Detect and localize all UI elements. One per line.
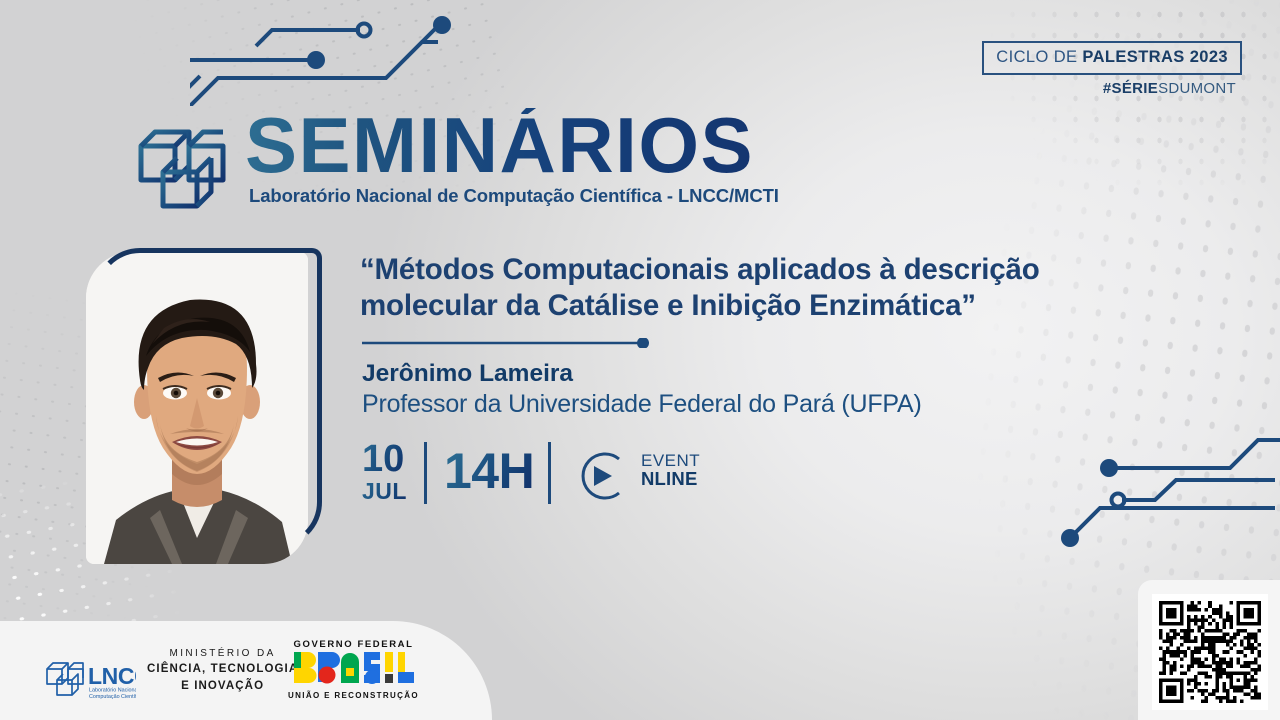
brasil-wordmark-icon	[294, 650, 414, 684]
online-label: NLINE	[641, 468, 698, 490]
brand-subtitle: Laboratório Nacional de Computação Cient…	[249, 185, 779, 207]
circuit-trace-top-left	[190, 0, 510, 106]
ciclo-palestras-badge: CICLO DE PALESTRAS 2023	[982, 41, 1242, 75]
gov-bottom-label: UNIÃO E RECONSTRUÇÃO	[288, 691, 419, 700]
lncc-cube-logo-icon	[133, 116, 237, 220]
circuit-trace-bottom-right	[1060, 410, 1280, 560]
governo-federal-logo: GOVERNO FEDERAL	[288, 639, 419, 700]
gov-top-label: GOVERNO FEDERAL	[288, 639, 419, 650]
meta-divider-1	[424, 442, 427, 504]
qr-code-card[interactable]	[1138, 580, 1280, 720]
svg-text:Computação Científica: Computação Científica	[89, 694, 136, 700]
mcti-logo: MINISTÉRIO DA CIÊNCIA, TECNOLOGIA E INOV…	[147, 647, 298, 694]
meta-divider-2	[548, 442, 551, 504]
mcti-line-3: E INOVAÇÃO	[147, 678, 298, 694]
lncc-footer-logo-icon: LNCC Laboratório Nacional de Computação …	[44, 656, 136, 700]
footer-band: LNCC Laboratório Nacional de Computação …	[0, 621, 492, 720]
speaker-name: Jerônimo Lameira	[362, 360, 573, 388]
qr-code[interactable]	[1152, 594, 1268, 710]
brand-title: SEMINÁRIOS	[245, 108, 779, 183]
evento-online-block: EVENT NLINE	[567, 450, 639, 507]
speaker-role: Professor da Universidade Federal do Par…	[362, 390, 922, 419]
mcti-line-1: MINISTÉRIO DA	[147, 647, 298, 661]
badge-prefix: CICLO DE	[996, 48, 1082, 66]
mcti-line-2: CIÊNCIA, TECNOLOGIA	[147, 661, 298, 677]
halftone-pattern-top-right	[960, 0, 1280, 220]
speaker-photo	[86, 248, 322, 560]
qr-code-icon	[1159, 601, 1261, 703]
talk-title: “Métodos Computacionais aplicados à desc…	[360, 252, 1120, 325]
svg-text:LNCC: LNCC	[88, 663, 136, 689]
badge-strong: PALESTRAS 2023	[1082, 48, 1228, 66]
svg-text:Laboratório Nacional de: Laboratório Nacional de	[89, 688, 136, 694]
hashtag-serie-sdumont: #SÉRIESDUMONT	[1103, 80, 1236, 97]
title-underline-rule	[362, 338, 652, 348]
speaker-photo-frame	[94, 248, 322, 548]
hashtag-strong: #SÉRIE	[1103, 80, 1158, 97]
event-time: 14H	[444, 446, 534, 496]
event-month: JUL	[362, 478, 407, 505]
seminar-poster: CICLO DE PALESTRAS 2023 #SÉRIESDUMONT	[0, 0, 1280, 720]
event-day: 10	[362, 444, 404, 475]
hashtag-rest: SDUMONT	[1158, 80, 1236, 97]
play-circle-icon	[567, 450, 639, 502]
talk-title-block: “Métodos Computacionais aplicados à desc…	[360, 252, 1120, 325]
